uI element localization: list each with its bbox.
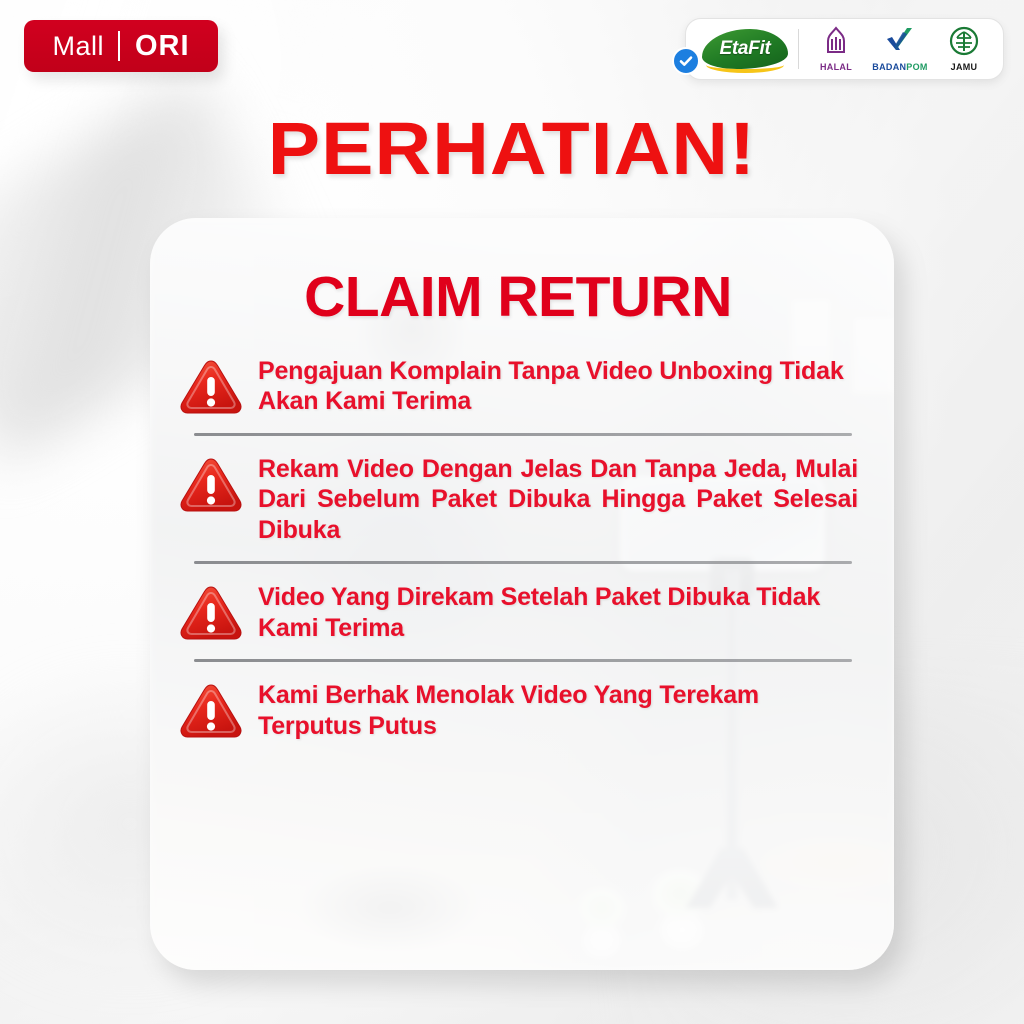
brand-logo-mall-text: Mall	[52, 31, 118, 62]
certification-item-badan-pom: BADANPOM	[873, 26, 927, 72]
rule-item-text: Kami Berhak Menolak Video Yang Terekam T…	[258, 678, 858, 741]
page-headline: PERHATIAN!	[0, 112, 1024, 186]
certification-item-jamu: JAMU	[937, 26, 991, 72]
rule-item: Video Yang Direkam Setelah Paket Dibuka …	[178, 576, 858, 649]
verified-check-icon	[672, 47, 700, 75]
card-content: CLAIM RETURN	[150, 218, 894, 970]
badan-pom-label-badan: BADAN	[872, 62, 906, 72]
halal-mosque-icon	[821, 26, 851, 61]
warning-triangle-icon	[178, 682, 244, 740]
warning-triangle-icon	[178, 358, 244, 416]
etafit-logo: EtaFit	[702, 29, 788, 69]
certification-item-halal: HALAL	[809, 26, 863, 72]
rule-divider	[194, 659, 852, 662]
rule-item-text: Pengajuan Komplain Tanpa Video Unboxing …	[258, 354, 858, 417]
poster-canvas: Mall ORI EtaFit	[0, 0, 1024, 1024]
jamu-tree-icon	[949, 26, 979, 61]
certification-items: HALAL BADANPOM	[809, 26, 991, 72]
card-title: CLAIM RETURN	[178, 268, 858, 328]
rule-divider	[194, 561, 852, 564]
rule-item-text: Video Yang Direkam Setelah Paket Dibuka …	[258, 580, 858, 643]
claim-return-card: CLAIM RETURN	[150, 218, 894, 970]
warning-triangle-icon	[178, 456, 244, 514]
rules-list: Pengajuan Komplain Tanpa Video Unboxing …	[178, 350, 858, 748]
etafit-logo-text: EtaFit	[720, 38, 771, 60]
warning-triangle-icon	[178, 584, 244, 642]
jamu-label: JAMU	[951, 63, 978, 72]
rule-item-text: Rekam Video Dengan Jelas Dan Tanpa Jeda,…	[258, 452, 858, 546]
brand-logo-ori-text: ORI	[120, 30, 190, 63]
badan-pom-check-icon	[883, 26, 917, 61]
certification-separator	[798, 29, 799, 69]
rule-item: Pengajuan Komplain Tanpa Video Unboxing …	[178, 350, 858, 423]
rule-divider	[194, 433, 852, 436]
badan-pom-label-pom: POM	[906, 62, 927, 72]
rule-item: Rekam Video Dengan Jelas Dan Tanpa Jeda,…	[178, 448, 858, 552]
brand-logo[interactable]: Mall ORI	[24, 20, 218, 72]
certification-badge-group: EtaFit HALAL	[685, 18, 1004, 80]
badan-pom-label: BADANPOM	[872, 63, 927, 72]
rule-item: Kami Berhak Menolak Video Yang Terekam T…	[178, 674, 858, 747]
halal-label: HALAL	[820, 63, 852, 72]
